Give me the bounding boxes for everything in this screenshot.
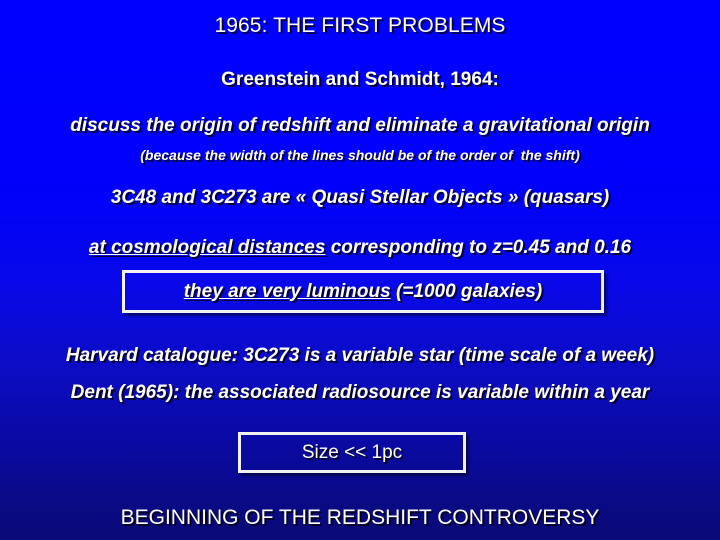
slide-footer: BEGINNING OF THE REDSHIFT CONTROVERSY xyxy=(0,506,720,529)
statement-discuss-origin: discuss the origin of redshift and elimi… xyxy=(0,116,720,137)
callout-box-luminous-text: they are very luminous (=1000 galaxies) xyxy=(125,281,601,303)
statement-quasi-stellar-objects: 3C48 and 3C273 are « Quasi Stellar Objec… xyxy=(0,188,720,209)
callout-box-size: Size << 1pc xyxy=(238,432,466,473)
statement-cosmological-distances: at cosmological distances corresponding … xyxy=(0,238,720,259)
slide-canvas: 1965: THE FIRST PROBLEMS Greenstein and … xyxy=(0,0,720,540)
statement-dent-1965: Dent (1965): the associated radiosource … xyxy=(0,383,720,404)
statement-because-parenthetical: (because the width of the lines should b… xyxy=(0,148,720,163)
very-luminous-underline: they are very luminous xyxy=(184,281,391,302)
very-luminous-remainder: (=1000 galaxies) xyxy=(391,281,543,302)
callout-box-luminous: they are very luminous (=1000 galaxies) xyxy=(122,270,604,313)
callout-box-size-text: Size << 1pc xyxy=(241,442,463,464)
cosmological-distances-underline: at cosmological distances xyxy=(89,237,326,258)
slide-title: 1965: THE FIRST PROBLEMS xyxy=(0,14,720,37)
cosmological-distances-remainder: corresponding to z=0.45 and 0.16 xyxy=(325,237,631,258)
statement-harvard-catalogue: Harvard catalogue: 3C273 is a variable s… xyxy=(0,346,720,367)
slide-subheading: Greenstein and Schmidt, 1964: xyxy=(0,70,720,91)
